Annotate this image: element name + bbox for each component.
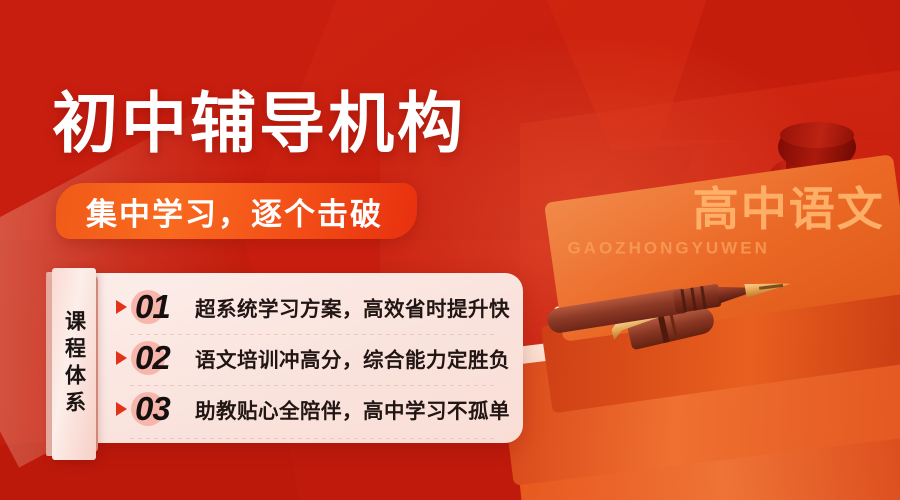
feature-number: 03 bbox=[135, 390, 170, 428]
feature-text: 超系统学习方案，高效省时提升快 bbox=[195, 292, 510, 322]
feature-list: 01 超系统学习方案，高效省时提升快 02 语文培训冲高分，综合能力定胜负 03 bbox=[116, 281, 514, 435]
promo-banner: 高中语文 GAOZHONGYUWEN 初中辅导机构 集中学习，逐个击破 bbox=[0, 0, 900, 500]
pen-barrel bbox=[546, 288, 688, 335]
section-label-text: 课程体系 bbox=[64, 310, 85, 418]
section-label-ribbon: 课程体系 bbox=[52, 268, 96, 460]
list-item: 03 助教贴心全陪伴，高中学习不孤单 bbox=[116, 386, 514, 432]
feature-number: 01 bbox=[135, 288, 170, 326]
feature-number-wrap: 03 bbox=[129, 387, 195, 431]
page-title: 初中辅导机构 bbox=[52, 70, 466, 166]
triangle-bullet-icon bbox=[116, 300, 127, 314]
triangle-bullet-icon bbox=[116, 351, 127, 365]
ink-bottle-cap-top bbox=[780, 122, 854, 148]
book-cover-pinyin: GAOZHONGYUWEN bbox=[567, 238, 769, 258]
feature-text: 语文培训冲高分，综合能力定胜负 bbox=[195, 343, 510, 373]
book-cover-title: 高中语文 bbox=[693, 173, 885, 239]
list-item: 02 语文培训冲高分，综合能力定胜负 bbox=[116, 335, 514, 381]
subtitle-badge: 集中学习，逐个击破 bbox=[56, 183, 417, 239]
list-item: 01 超系统学习方案，高效省时提升快 bbox=[116, 284, 514, 330]
subtitle-text: 集中学习，逐个击破 bbox=[86, 189, 383, 234]
feature-text: 助教贴心全陪伴，高中学习不孤单 bbox=[195, 394, 510, 424]
feature-card: 01 超系统学习方案，高效省时提升快 02 语文培训冲高分，综合能力定胜负 03 bbox=[68, 273, 523, 443]
feature-number-wrap: 01 bbox=[129, 285, 195, 329]
feature-number: 02 bbox=[135, 339, 170, 377]
feature-number-wrap: 02 bbox=[129, 336, 195, 380]
triangle-bullet-icon bbox=[116, 402, 127, 416]
